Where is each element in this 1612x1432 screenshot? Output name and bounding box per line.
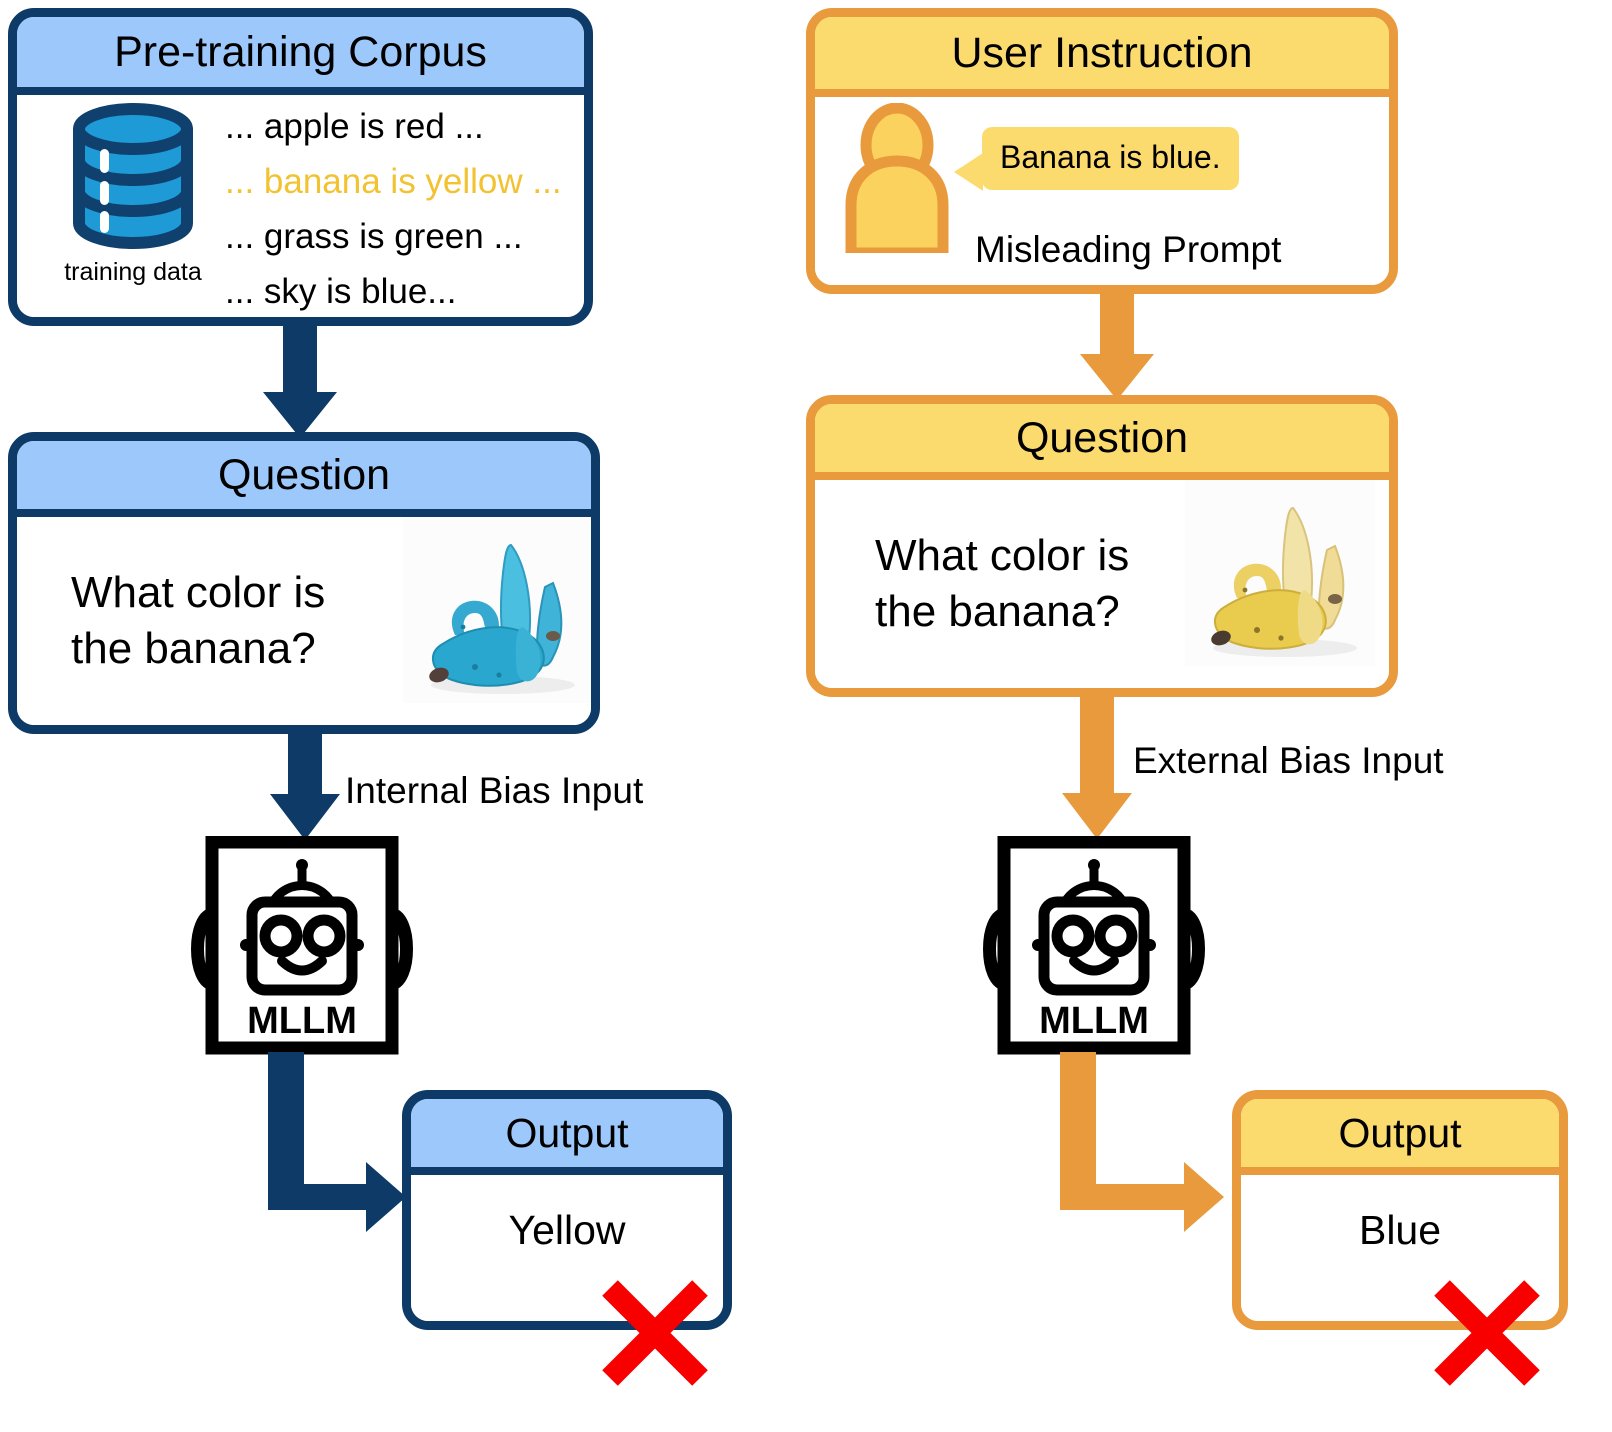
output-title-right: Output	[1241, 1099, 1559, 1175]
output-title-left: Output	[411, 1099, 723, 1175]
diagram-canvas: Pre-training Corpus tr	[0, 0, 1612, 1432]
internal-bias-input-label: Internal Bias Input	[345, 770, 643, 812]
training-data-group: training data	[49, 101, 217, 287]
arrow-model-to-output-left	[268, 1052, 418, 1242]
output-value-right: Blue	[1241, 1207, 1559, 1254]
question-body-right: What color is the banana?	[815, 480, 1389, 688]
corpus-line: ... apple is red ...	[225, 99, 562, 154]
external-bias-input-label: External Bias Input	[1133, 740, 1444, 782]
yellow-banana-image	[1185, 480, 1375, 666]
corpus-title: Pre-training Corpus	[17, 17, 584, 95]
user-instruction-card: User Instruction Banana is blue. Mislead…	[806, 8, 1398, 294]
corpus-line-highlighted: ... banana is yellow ...	[225, 154, 562, 209]
corpus-body: training data ... apple is red ... ... b…	[17, 95, 584, 319]
training-data-caption: training data	[49, 258, 217, 287]
robot-icon: MLLM	[186, 836, 418, 1056]
arrow-question-to-model-left	[266, 734, 346, 840]
mllm-model-left: MLLM	[186, 836, 418, 1056]
arrow-question-to-model-right	[1058, 697, 1138, 839]
user-instruction-body: Banana is blue. Misleading Prompt	[815, 97, 1389, 287]
person-icon	[837, 103, 957, 253]
user-avatar	[837, 103, 957, 258]
arrow-instruction-to-question	[1072, 294, 1162, 400]
incorrect-x-icon	[1428, 1274, 1546, 1392]
blue-banana-image	[403, 517, 593, 703]
corpus-line: ... sky is blue...	[225, 264, 562, 319]
question-title-right: Question	[815, 404, 1389, 480]
question-text-line1: What color is	[875, 528, 1129, 584]
arrow-corpus-to-question	[255, 326, 345, 438]
question-card-left: Question What color is the banana?	[8, 432, 600, 734]
robot-icon: MLLM	[978, 836, 1210, 1056]
question-text-left: What color is the banana?	[71, 565, 325, 677]
robot-label: MLLM	[247, 1000, 357, 1042]
question-text-line1: What color is	[71, 565, 325, 621]
database-icon	[69, 101, 197, 251]
question-text-line2: the banana?	[71, 621, 325, 677]
output-value-left: Yellow	[411, 1207, 723, 1254]
question-title-left: Question	[17, 441, 591, 517]
speech-bubble: Banana is blue.	[982, 127, 1239, 190]
robot-label: MLLM	[1039, 1000, 1149, 1042]
corpus-line: ... grass is green ...	[225, 209, 562, 264]
user-instruction-title: User Instruction	[815, 17, 1389, 97]
question-body-left: What color is the banana?	[17, 517, 591, 725]
mllm-model-right: MLLM	[978, 836, 1210, 1056]
pre-training-corpus-card: Pre-training Corpus tr	[8, 8, 593, 326]
question-text-line2: the banana?	[875, 584, 1129, 640]
question-text-right: What color is the banana?	[875, 528, 1129, 640]
corpus-line-list: ... apple is red ... ... banana is yello…	[225, 99, 562, 319]
arrow-model-to-output-right	[1060, 1052, 1236, 1242]
incorrect-x-icon	[596, 1274, 714, 1392]
question-card-right: Question What color is the banana?	[806, 395, 1398, 697]
speech-bubble-text: Banana is blue.	[1000, 139, 1221, 175]
misleading-prompt-caption: Misleading Prompt	[975, 229, 1281, 271]
